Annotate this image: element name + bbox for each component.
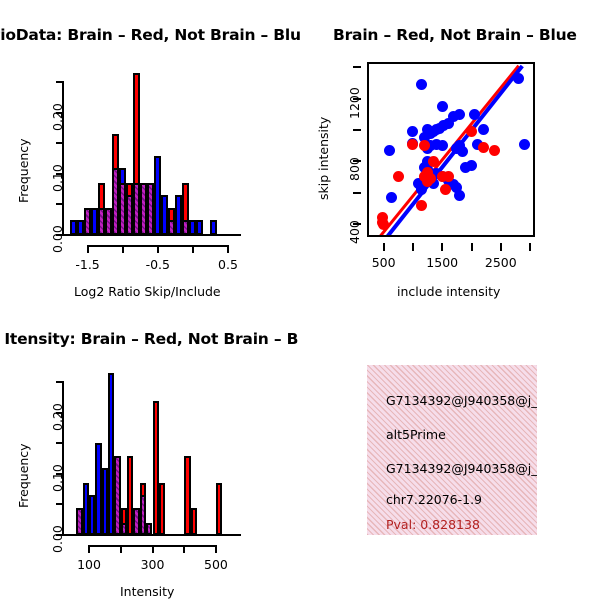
- scatter-point: [416, 200, 427, 211]
- panel-intensity-histogram: ne Itensity: Brain – Red, Not Brain – B …: [0, 310, 300, 600]
- scatter-point: [437, 101, 448, 112]
- histogram-bar: [91, 208, 98, 236]
- panel-info: G7134392@J940358@j_ alt5Prime G7134392@J…: [300, 310, 600, 600]
- y-axis-tick-label: 1200: [347, 87, 362, 119]
- scatter-point: [454, 109, 465, 120]
- y-axis-tick: [56, 381, 64, 383]
- y-axis-tick-label: 400: [347, 220, 362, 244]
- x-axis-tick: [215, 545, 217, 553]
- histogram-bar-overlap: [76, 508, 82, 536]
- histogram-bar-overlap: [105, 208, 112, 236]
- scatter-point: [428, 156, 439, 167]
- scatter-title: Brain – Red, Not Brain – Blue: [333, 26, 577, 44]
- y-axis-tick-label: 800: [347, 157, 362, 181]
- info-line-event-type: alt5Prime: [386, 427, 446, 442]
- scatter-point: [478, 124, 489, 135]
- x-axis-tick: [183, 545, 185, 553]
- scatter-point: [386, 192, 397, 203]
- x-axis-tick: [383, 243, 385, 251]
- x-axis-tick-label: 0.5: [218, 257, 238, 272]
- intensity-histogram-xlabel: Intensity: [120, 584, 174, 599]
- histogram-bar: [210, 220, 217, 235]
- x-axis-tick-label: 500: [372, 255, 396, 270]
- info-line-pval: Pval: 0.828138: [386, 517, 480, 532]
- x-axis-tick: [87, 245, 89, 253]
- scatter-point: [416, 79, 427, 90]
- x-axis-tick-label: 500: [204, 557, 228, 572]
- histogram-bar: [175, 195, 182, 235]
- y-axis-tick-label: 0.10: [50, 464, 65, 492]
- y-axis-tick: [56, 503, 64, 505]
- x-axis-tick: [227, 245, 229, 253]
- histogram-bar-overlap: [84, 208, 91, 236]
- histogram-bar: [70, 220, 77, 235]
- histogram-bar-overlap: [182, 220, 189, 235]
- y-axis-tick-label: 0.00: [50, 225, 65, 253]
- panel-ratio-histogram: RatioData: Brain – Red, Not Brain – Blu …: [0, 0, 300, 310]
- scatter-point: [384, 145, 395, 156]
- x-axis-tick: [122, 245, 124, 253]
- intensity-histogram-plot-area: [70, 370, 235, 535]
- histogram-bar-overlap: [140, 183, 147, 235]
- scatter-point: [440, 184, 451, 195]
- scatter-xlabel: include intensity: [397, 284, 500, 299]
- panel-intensity-scatter: Brain – Red, Not Brain – Blue skip inten…: [300, 0, 600, 310]
- histogram-bar: [196, 220, 203, 235]
- histogram-bar: [191, 508, 197, 536]
- ratio-histogram-ylabel: Frequency: [16, 138, 31, 203]
- info-line-location: chr7.22076-1.9: [386, 492, 482, 507]
- histogram-bar-overlap: [133, 183, 140, 235]
- y-axis-tick-label: 0.20: [50, 403, 65, 431]
- y-axis-tick: [56, 203, 64, 205]
- histogram-baseline: [64, 534, 241, 536]
- info-line-probe-id: G7134392@J940358@j_: [386, 461, 537, 476]
- intensity-histogram-title: ne Itensity: Brain – Red, Not Brain – B: [0, 330, 298, 348]
- x-axis-tick-label: -0.5: [146, 257, 170, 272]
- scatter-point: [454, 190, 465, 201]
- scatter-point: [393, 171, 404, 182]
- scatter-point: [443, 171, 454, 182]
- x-axis-tick: [529, 243, 531, 251]
- x-axis-tick: [152, 545, 154, 553]
- histogram-bar-overlap: [98, 208, 105, 236]
- y-axis-tick: [353, 192, 361, 194]
- y-axis-tick: [353, 66, 361, 68]
- scatter-point: [519, 139, 530, 150]
- y-axis-tick: [56, 81, 64, 83]
- scatter-plot-area: [367, 62, 535, 237]
- intensity-histogram-ylabel: Frequency: [16, 443, 31, 508]
- histogram-bar: [77, 220, 84, 235]
- x-axis-tick-label: 2500: [485, 255, 517, 270]
- histogram-bar-overlap: [126, 195, 133, 235]
- histogram-bar-overlap: [168, 220, 175, 235]
- y-axis-tick: [56, 442, 64, 444]
- histogram-bar-overlap: [112, 168, 119, 235]
- histogram-baseline: [64, 234, 241, 236]
- scatter-point: [469, 109, 480, 120]
- x-axis-tick: [120, 545, 122, 553]
- info-line-gene-id: G7134392@J940358@j_: [386, 393, 537, 408]
- x-axis-tick: [157, 245, 159, 253]
- x-axis-tick: [441, 243, 443, 251]
- histogram-bar: [154, 156, 161, 235]
- x-axis-tick: [500, 243, 502, 251]
- histogram-bar: [159, 483, 165, 535]
- scatter-point: [489, 145, 500, 156]
- scatter-ylabel: skip intensity: [316, 117, 331, 200]
- scatter-point: [437, 140, 448, 151]
- scatter-point: [466, 126, 477, 137]
- scatter-point: [457, 146, 468, 157]
- figure-canvas: RatioData: Brain – Red, Not Brain – Blu …: [0, 0, 600, 600]
- y-axis-tick: [56, 142, 64, 144]
- scatter-point: [407, 139, 418, 150]
- histogram-bar: [216, 483, 222, 535]
- scatter-point: [478, 142, 489, 153]
- info-panel-background: G7134392@J940358@j_ alt5Prime G7134392@J…: [367, 365, 537, 535]
- x-axis-tick: [192, 245, 194, 253]
- histogram-bar-overlap: [147, 183, 154, 235]
- x-axis-tick-label: -1.5: [75, 257, 99, 272]
- y-axis-tick-label: 0.20: [50, 103, 65, 131]
- ratio-histogram-title: RatioData: Brain – Red, Not Brain – Blu: [0, 26, 301, 44]
- x-axis-tick-label: 100: [77, 557, 101, 572]
- scatter-point: [513, 73, 524, 84]
- histogram-bar: [161, 195, 168, 235]
- ratio-histogram-plot-area: [70, 70, 235, 235]
- ratio-histogram-xlabel: Log2 Ratio Skip/Include: [74, 284, 221, 299]
- scatter-point: [407, 126, 418, 137]
- x-axis-tick-label: 1500: [426, 255, 458, 270]
- scatter-point: [466, 160, 477, 171]
- histogram-bar: [189, 220, 196, 235]
- y-axis-tick: [353, 129, 361, 131]
- x-axis-tick: [88, 545, 90, 553]
- y-axis-tick-label: 0.00: [50, 525, 65, 553]
- x-axis-tick-label: 300: [141, 557, 165, 572]
- x-axis-tick: [471, 243, 473, 251]
- y-axis-tick-label: 0.10: [50, 164, 65, 192]
- histogram-bar-overlap: [119, 183, 126, 235]
- x-axis-tick: [412, 243, 414, 251]
